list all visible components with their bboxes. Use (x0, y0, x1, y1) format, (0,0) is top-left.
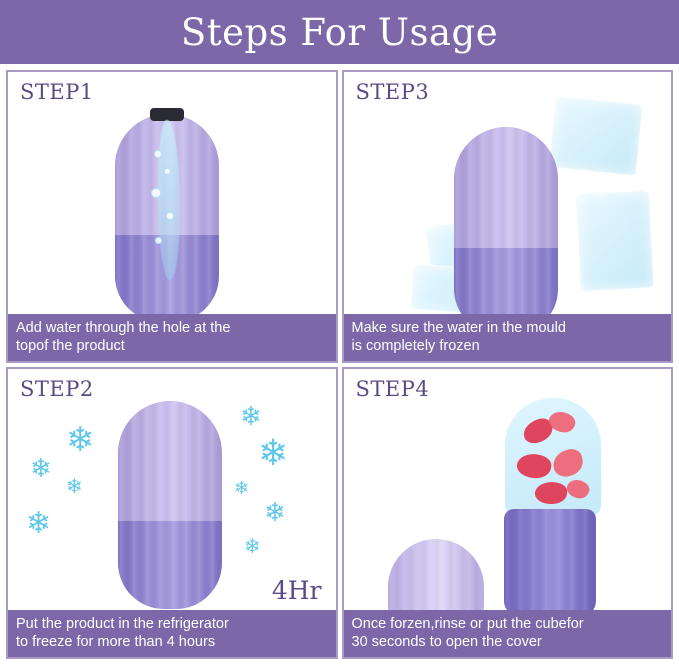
ice-cube-icon (575, 190, 654, 292)
rose-petal-icon (533, 480, 567, 505)
step-label: STEP4 (356, 377, 430, 401)
ice-cube-icon (548, 96, 643, 177)
roller-ribs (454, 127, 558, 335)
water-bubble-icon (154, 150, 162, 158)
step-card-2: ❄ ❄ ❄ ❄ ❄ ❄ ❄ ❄ ❄ 4Hr STEP2 Put the prod… (6, 367, 338, 660)
caption-line: Put the product in the refrigerator (16, 615, 328, 633)
caption-line: is completely frozen (352, 337, 664, 355)
snowflake-icon: ❄ (240, 403, 262, 429)
caption-line: 30 seconds to open the cover (352, 633, 664, 651)
usage-steps-infographic: Steps For Usage STEP1 Add water t (0, 0, 679, 665)
snowflake-icon: ❄ (30, 455, 52, 481)
rose-petal-icon (550, 446, 585, 478)
snowflake-icon: ❄ (66, 423, 95, 457)
snowflake-icon: ❄ (258, 435, 288, 471)
caption-line: topof the product (16, 337, 328, 355)
step-caption: Put the product in the refrigerator to f… (8, 610, 336, 657)
snowflake-icon: ❄ (234, 479, 249, 497)
rose-petal-icon (563, 475, 591, 502)
roller-ribs (388, 539, 484, 617)
step-caption: Once forzen,rinse or put the cubefor 30 … (344, 610, 672, 657)
water-bubble-icon (164, 168, 171, 175)
step-caption: Make sure the water in the mould is comp… (344, 314, 672, 361)
step-label: STEP2 (20, 377, 94, 401)
step-label: STEP3 (356, 80, 430, 104)
header-banner: Steps For Usage (0, 0, 679, 64)
caption-line: Add water through the hole at the (16, 319, 328, 337)
step-caption: Add water through the hole at the topof … (8, 314, 336, 361)
snowflake-icon: ❄ (26, 509, 51, 539)
ice-roller-icon (118, 401, 222, 609)
caption-line: Make sure the water in the mould (352, 319, 664, 337)
ice-roller-icon (454, 127, 558, 335)
water-bubble-icon (155, 237, 162, 244)
step-card-4: STEP4 Once forzen,rinse or put the cubef… (342, 367, 674, 660)
water-bubble-icon (166, 212, 174, 220)
page-title: Steps For Usage (181, 11, 498, 54)
step-label: STEP1 (20, 80, 94, 104)
snowflake-icon: ❄ (66, 477, 83, 497)
roller-ribs (118, 401, 222, 609)
snowflake-icon: ❄ (264, 499, 286, 525)
caption-line: to freeze for more than 4 hours (16, 633, 328, 651)
roller-dome-icon (388, 539, 484, 617)
step-card-3: STEP3 Make sure the water in the mould i… (342, 70, 674, 363)
water-bubble-icon (151, 188, 161, 198)
roller-cup-icon (504, 509, 596, 617)
snowflake-icon: ❄ (244, 537, 261, 557)
rose-petal-icon (514, 450, 552, 481)
ice-cap-icon (504, 397, 602, 517)
roller-ribs (504, 509, 596, 617)
steps-grid: STEP1 Add water through the hole at the … (0, 64, 679, 665)
step-card-1: STEP1 Add water through the hole at the … (6, 70, 338, 363)
caption-line: Once forzen,rinse or put the cubefor (352, 615, 664, 633)
duration-badge: 4Hr (272, 576, 322, 605)
